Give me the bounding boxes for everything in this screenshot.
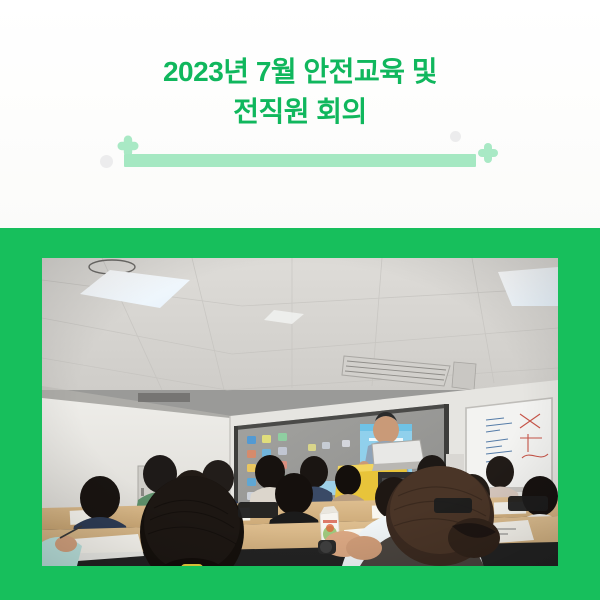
decorative-dot-right (450, 131, 461, 142)
title-underline-bar (124, 154, 476, 167)
promo-card: 2023년 7월 안전교육 및 전직원 회의 (0, 0, 600, 600)
clover-icon-right (478, 143, 498, 163)
page-title-line-1: 2023년 7월 안전교육 및 (0, 52, 600, 92)
classroom-photo-illustration: patagonia Terrifically Plank (42, 258, 558, 566)
page-title: 2023년 7월 안전교육 및 전직원 회의 (0, 52, 600, 132)
header-banner: 2023년 7월 안전교육 및 전직원 회의 (0, 0, 600, 228)
classroom-photo: patagonia Terrifically Plank (42, 258, 558, 566)
page-title-line-2: 전직원 회의 (0, 92, 600, 132)
decorative-dot-left (100, 155, 113, 168)
